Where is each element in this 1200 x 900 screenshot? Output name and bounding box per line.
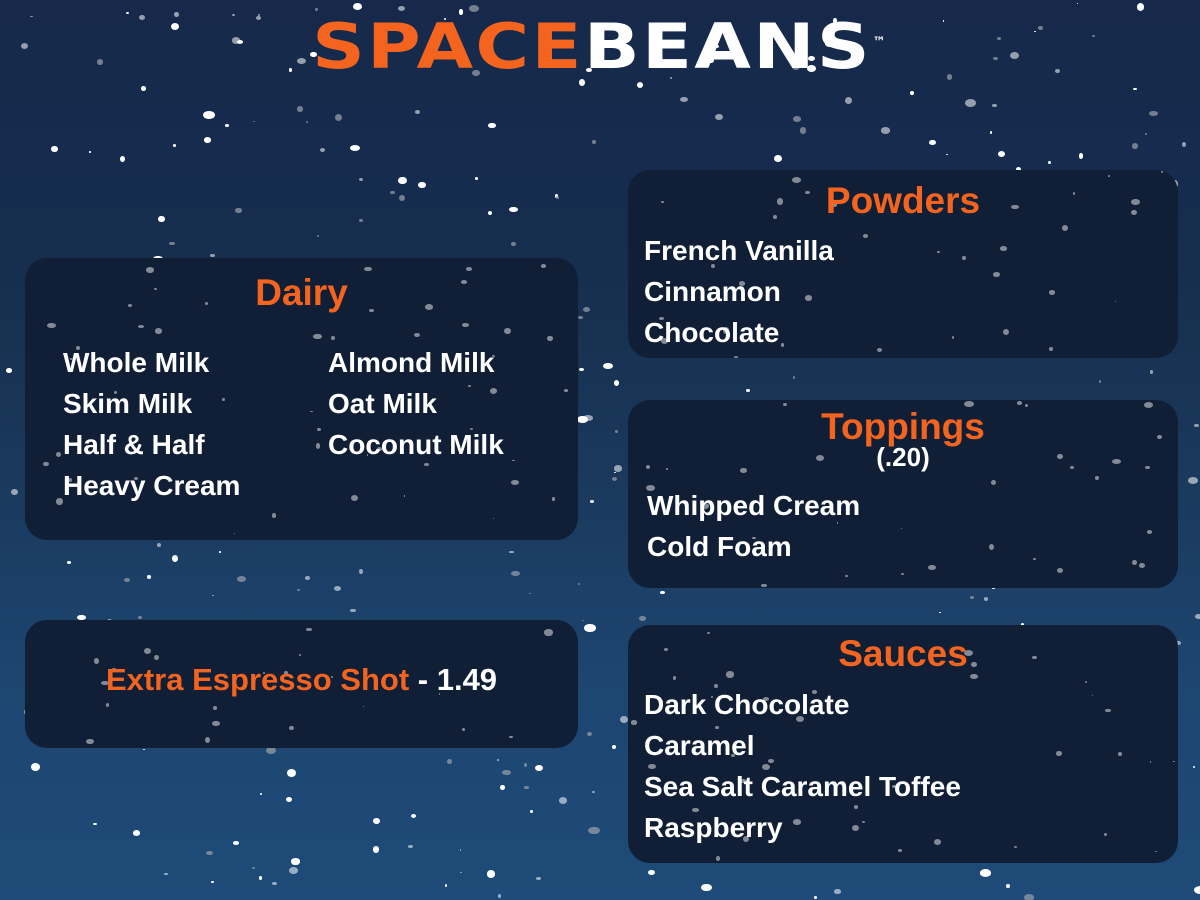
toppings-list: Whipped Cream Cold Foam xyxy=(628,473,1178,567)
brand-logo: SPACEBEANS™ xyxy=(0,14,1200,79)
menu-board: SPACEBEANS™ Dairy Whole Milk Skim Milk H… xyxy=(0,0,1200,900)
list-item: Sea Salt Caramel Toffee xyxy=(644,766,1178,807)
list-item: Oat Milk xyxy=(328,383,578,424)
list-item: Heavy Cream xyxy=(63,465,328,506)
list-item: Caramel xyxy=(644,725,1178,766)
panel-toppings: Toppings (.20) Whipped Cream Cold Foam xyxy=(628,400,1178,588)
espresso-shot-price: - 1.49 xyxy=(418,662,497,697)
panel-toppings-subtitle: (.20) xyxy=(628,442,1178,473)
list-item: French Vanilla xyxy=(644,230,1178,271)
logo-space-word: SPACE xyxy=(312,10,584,83)
dairy-column-left: Whole Milk Skim Milk Half & Half Heavy C… xyxy=(63,342,328,506)
list-item: Coconut Milk xyxy=(328,424,578,465)
dairy-column-right: Almond Milk Oat Milk Coconut Milk xyxy=(328,342,578,506)
list-item: Almond Milk xyxy=(328,342,578,383)
logo-text: SPACEBEANS™ xyxy=(312,14,887,79)
list-item: Skim Milk xyxy=(63,383,328,424)
sauces-list: Dark Chocolate Caramel Sea Salt Caramel … xyxy=(628,675,1178,848)
list-item: Whipped Cream xyxy=(647,485,1178,526)
powders-list: French Vanilla Cinnamon Chocolate xyxy=(628,222,1178,353)
panel-dairy-title: Dairy xyxy=(25,258,578,314)
list-item: Half & Half xyxy=(63,424,328,465)
panel-sauces: Sauces Dark Chocolate Caramel Sea Salt C… xyxy=(628,625,1178,863)
panel-extra-espresso-shot: Extra Espresso Shot - 1.49 xyxy=(25,620,578,748)
trademark-icon: ™ xyxy=(873,36,886,50)
list-item: Raspberry xyxy=(644,807,1178,848)
list-item: Whole Milk xyxy=(63,342,328,383)
panel-powders-title: Powders xyxy=(628,170,1178,222)
espresso-shot-row: Extra Espresso Shot - 1.49 xyxy=(25,620,578,698)
panel-toppings-title: Toppings xyxy=(628,400,1178,448)
panel-powders: Powders French Vanilla Cinnamon Chocolat… xyxy=(628,170,1178,358)
list-item: Chocolate xyxy=(644,312,1178,353)
espresso-shot-label: Extra Espresso Shot xyxy=(106,662,409,697)
list-item: Cold Foam xyxy=(647,526,1178,567)
panel-dairy: Dairy Whole Milk Skim Milk Half & Half H… xyxy=(25,258,578,540)
panel-sauces-title: Sauces xyxy=(628,625,1178,675)
list-item: Dark Chocolate xyxy=(644,684,1178,725)
dairy-columns: Whole Milk Skim Milk Half & Half Heavy C… xyxy=(25,314,578,506)
list-item: Cinnamon xyxy=(644,271,1178,312)
logo-beans-word: BEANS xyxy=(584,10,872,83)
